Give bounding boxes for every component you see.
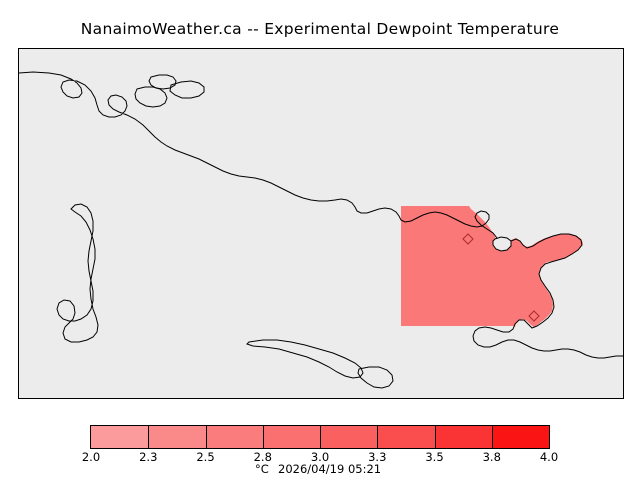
colorbar-tick — [320, 426, 321, 448]
colorbar-tick — [206, 426, 207, 448]
page-title: NanaimoWeather.ca -- Experimental Dewpoi… — [0, 20, 640, 38]
weather-map-page: NanaimoWeather.ca -- Experimental Dewpoi… — [0, 0, 640, 480]
colorbar-segment — [377, 426, 434, 448]
colorbar-tick-label: 2.5 — [196, 450, 214, 464]
colorbar-tick-label: 3.8 — [483, 450, 501, 464]
colorbar-segment — [263, 426, 320, 448]
colorbar-tick — [435, 426, 436, 448]
colorbar-tick-label: 4.0 — [540, 450, 558, 464]
colorbar-datetime-label: 2026/04/19 05:21 — [278, 462, 381, 476]
colorbar-tick — [492, 426, 493, 448]
coastline-outlines — [19, 72, 623, 388]
colorbar-tick-label: 3.5 — [425, 450, 443, 464]
colorbar-tick-label: 2.3 — [139, 450, 157, 464]
colorbar-unit-label: °C — [255, 462, 269, 476]
colorbar-tick — [148, 426, 149, 448]
colorbar-tick-label: 2.0 — [82, 450, 100, 464]
map-canvas[interactable] — [18, 48, 624, 399]
colorbar-segment — [91, 426, 148, 448]
colorbar[interactable] — [90, 425, 550, 449]
colorbar-tick — [377, 426, 378, 448]
colorbar-segment — [435, 426, 492, 448]
dewpoint-data-region — [401, 206, 583, 327]
colorbar-segment — [320, 426, 377, 448]
colorbar-container: 2.02.32.52.83.03.33.53.84.0 — [90, 425, 550, 449]
colorbar-tick — [263, 426, 264, 448]
colorbar-segment — [206, 426, 263, 448]
map-graphics — [19, 49, 623, 398]
colorbar-segment — [148, 426, 205, 448]
colorbar-segment — [492, 426, 549, 448]
